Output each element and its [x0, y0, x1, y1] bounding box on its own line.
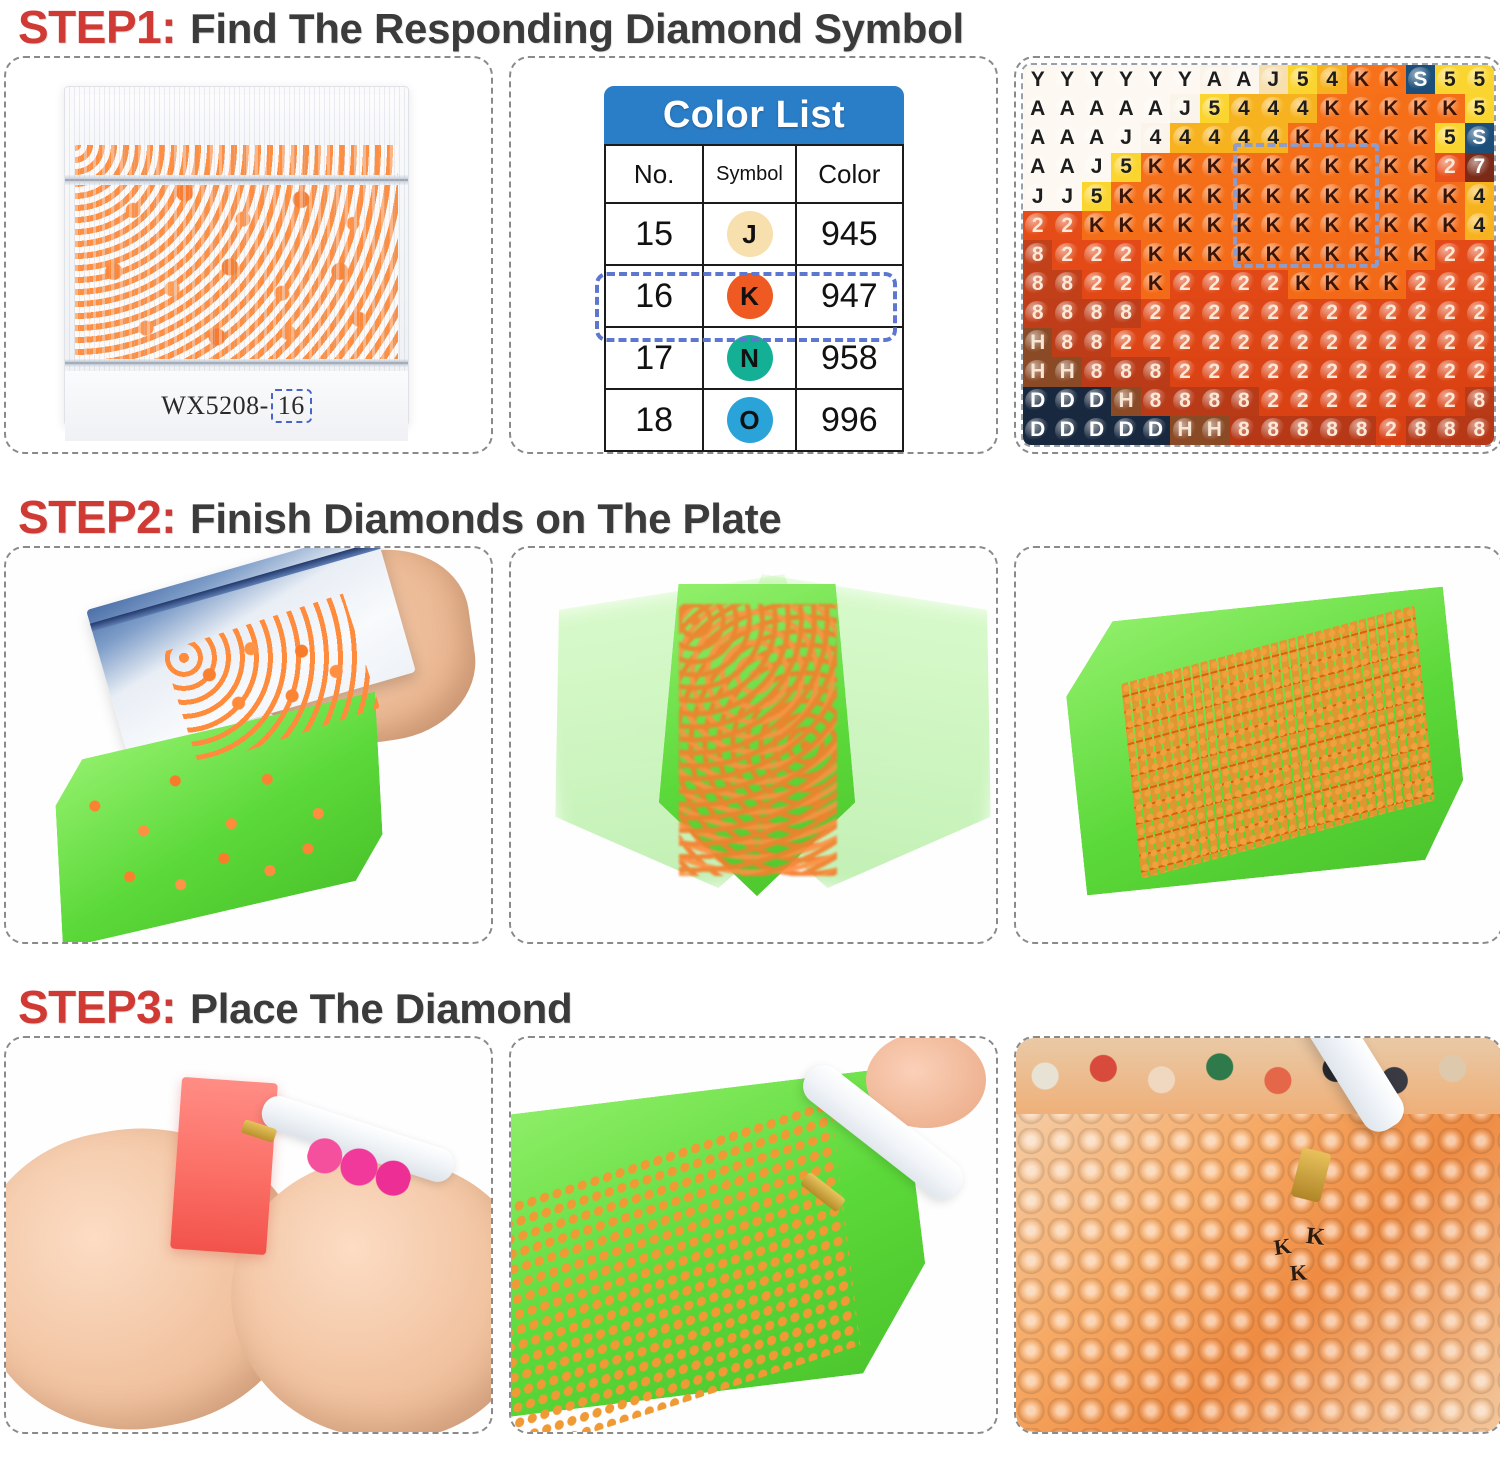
grid-cell-symbol: 4 — [1209, 126, 1221, 150]
grid-cell-symbol: 2 — [1209, 360, 1221, 384]
cell-no: 17 — [605, 327, 703, 389]
grid-cell: 7 — [1465, 153, 1494, 182]
grid-cell-symbol: K — [1354, 272, 1369, 296]
grid-cell-symbol: 2 — [1356, 360, 1368, 384]
grid-cell-symbol: 2 — [1473, 360, 1485, 384]
grid-cell-symbol: 2 — [1091, 243, 1103, 267]
grid-cell-symbol: 2 — [1209, 301, 1221, 325]
grid-cell-symbol: 2 — [1120, 331, 1132, 355]
grid-cell: A — [1023, 94, 1052, 123]
grid-cell-symbol: K — [1118, 185, 1133, 209]
grid-cell-symbol: Y — [1119, 68, 1133, 92]
grid-cell: K — [1200, 211, 1229, 240]
panel-pour-image — [6, 548, 491, 942]
grid-cell: 2 — [1376, 357, 1405, 386]
grid-cell: 2 — [1141, 299, 1170, 328]
panel-pen-wax — [4, 1036, 493, 1434]
grid-cell-symbol: K — [1442, 97, 1457, 121]
grid-cell-symbol: 8 — [1415, 418, 1427, 442]
grid-cell-symbol: D — [1089, 389, 1104, 413]
grid-cell: 4 — [1259, 94, 1288, 123]
grid-cell: 8 — [1200, 387, 1229, 416]
grid-cell-symbol: 8 — [1238, 418, 1250, 442]
grid-cell: 8 — [1229, 387, 1258, 416]
grid-cell-symbol: 5 — [1120, 155, 1132, 179]
step2-text: Finish Diamonds on The Plate — [190, 495, 781, 543]
grid-cell: 8 — [1141, 357, 1170, 386]
grid-cell-symbol: K — [1354, 97, 1369, 121]
grid-cell-symbol: 2 — [1385, 331, 1397, 355]
grid-cell: A — [1082, 123, 1111, 152]
grid-cell-symbol: 8 — [1032, 301, 1044, 325]
grid-cell-symbol: 2 — [1267, 389, 1279, 413]
grid-cell: 2 — [1435, 328, 1464, 357]
grid-cell-symbol: K — [1207, 243, 1222, 267]
pink-wax-block — [170, 1077, 278, 1255]
step3-text: Place The Diamond — [190, 985, 572, 1033]
grid-cell-symbol: 2 — [1385, 418, 1397, 442]
grid-cell: 5 — [1082, 182, 1111, 211]
grid-cell-symbol: A — [1060, 126, 1075, 150]
step2-panel-row — [0, 546, 1500, 944]
cell-no: 18 — [605, 389, 703, 451]
grid-cell-symbol: A — [1207, 68, 1222, 92]
grid-cell-symbol: 2 — [1356, 389, 1368, 413]
grid-cell: 2 — [1259, 299, 1288, 328]
table-row: 18 O 996 — [605, 389, 903, 451]
grid-cell: 4 — [1465, 211, 1494, 240]
grid-cell: 8 — [1347, 416, 1376, 445]
grid-cell: K — [1170, 153, 1199, 182]
table-row: 16 K 947 — [605, 265, 903, 327]
grid-cell: 5 — [1435, 123, 1464, 152]
grid-cell: K — [1141, 211, 1170, 240]
grid-cell-symbol: 2 — [1297, 331, 1309, 355]
grid-cell: 4 — [1200, 123, 1229, 152]
grid-cell: 2 — [1111, 240, 1140, 269]
grid-cell: D — [1023, 416, 1052, 445]
grid-cell-symbol: 2 — [1150, 301, 1162, 325]
grid-cell-symbol: 8 — [1032, 243, 1044, 267]
grid-cell: 8 — [1023, 299, 1052, 328]
grid-cell: K — [1317, 270, 1346, 299]
grid-cell-symbol: D — [1030, 418, 1045, 442]
grid-cell-symbol: 8 — [1473, 418, 1485, 442]
grid-cell: 8 — [1111, 299, 1140, 328]
grid-cell-symbol: 2 — [1356, 331, 1368, 355]
grid-cell-symbol: K — [1413, 185, 1428, 209]
grid-cell: K — [1376, 182, 1405, 211]
grid-cell-symbol: 2 — [1032, 214, 1044, 238]
grid-cell: 4 — [1317, 65, 1346, 94]
step3-panel-row: K K K — [0, 1036, 1500, 1434]
grid-cell: 2 — [1465, 299, 1494, 328]
panel-shake-tray — [509, 546, 998, 944]
grid-cell: 2 — [1465, 357, 1494, 386]
grid-cell: S — [1465, 123, 1494, 152]
grid-cell-symbol: 2 — [1179, 272, 1191, 296]
grid-cell-symbol: 2 — [1415, 331, 1427, 355]
grid-cell: 2 — [1200, 270, 1229, 299]
grid-cell-symbol: 2 — [1179, 301, 1191, 325]
grid-cell: Y — [1023, 65, 1052, 94]
grid-cell: 2 — [1052, 211, 1081, 240]
grid-cell: 2 — [1347, 357, 1376, 386]
grid-cell-symbol: 4 — [1150, 126, 1162, 150]
grid-cell: D — [1082, 416, 1111, 445]
grid-cell: 5 — [1111, 153, 1140, 182]
grid-cell-symbol: K — [1177, 243, 1192, 267]
grid-cell: 2 — [1259, 387, 1288, 416]
grid-cell-symbol: K — [1383, 272, 1398, 296]
grid-cell: A — [1141, 94, 1170, 123]
grid-cell-symbol: 2 — [1297, 360, 1309, 384]
canvas-symbol-k: K — [1289, 1259, 1308, 1286]
grid-cell-symbol: 2 — [1473, 301, 1485, 325]
grid-cell: K — [1376, 65, 1405, 94]
grid-cell: K — [1376, 211, 1405, 240]
grid-cell-symbol: D — [1060, 418, 1075, 442]
grid-cell: 2 — [1465, 240, 1494, 269]
grid-cell: K — [1406, 182, 1435, 211]
grid-cell-symbol: 2 — [1267, 272, 1279, 296]
grid-cell-symbol: K — [1148, 272, 1163, 296]
header-no: No. — [605, 145, 703, 203]
grid-cell: K — [1347, 270, 1376, 299]
grid-cell: K — [1200, 153, 1229, 182]
grid-cell: Y — [1170, 65, 1199, 94]
grid-cell: K — [1376, 240, 1405, 269]
grid-cell-symbol: 2 — [1120, 272, 1132, 296]
grid-cell-symbol: K — [1207, 185, 1222, 209]
grid-cell-symbol: A — [1148, 97, 1163, 121]
grid-cell: K — [1406, 153, 1435, 182]
grid-cell-symbol: J — [1267, 68, 1279, 92]
grid-cell: A — [1052, 153, 1081, 182]
panel-shake-image — [511, 548, 996, 942]
panel-color-list: Color List No. Symbol Color 15 J 945 — [509, 56, 998, 454]
grid-cell-symbol: 2 — [1473, 272, 1485, 296]
grid-cell: 2 — [1082, 270, 1111, 299]
grid-cell-symbol: 8 — [1091, 331, 1103, 355]
grid-cell: K — [1406, 94, 1435, 123]
grid-cell: A — [1023, 123, 1052, 152]
panel-aligned-diamonds — [1014, 546, 1500, 944]
grid-cell-symbol: 5 — [1091, 185, 1103, 209]
grid-cell: D — [1111, 416, 1140, 445]
grid-cell-symbol: 2 — [1267, 360, 1279, 384]
cell-color: 996 — [796, 389, 903, 451]
grid-cell: D — [1052, 416, 1081, 445]
color-list-table: No. Symbol Color 15 J 945 16 K 947 — [604, 144, 904, 452]
grid-cell-symbol: 2 — [1179, 360, 1191, 384]
grid-cell-symbol: K — [1118, 214, 1133, 238]
grid-cell: 2 — [1288, 299, 1317, 328]
grid-cell: K — [1376, 94, 1405, 123]
grid-cell-symbol: 8 — [1120, 301, 1132, 325]
grid-cell-symbol: 2 — [1473, 331, 1485, 355]
step1-heading: STEP1: Find The Responding Diamond Symbo… — [0, 0, 1500, 56]
grid-cell-symbol: A — [1030, 97, 1045, 121]
grid-cell: 2 — [1082, 240, 1111, 269]
grid-cell-symbol: D — [1148, 418, 1163, 442]
grid-cell: 8 — [1465, 387, 1494, 416]
panel-color-list-image: Color List No. Symbol Color 15 J 945 — [511, 58, 996, 452]
grid-cell: H — [1023, 328, 1052, 357]
grid-cell: 8 — [1288, 416, 1317, 445]
grid-cell-symbol: Y — [1148, 68, 1162, 92]
panel-diamond-bag-image: WX5208- 16 — [6, 58, 491, 452]
table-header-row: No. Symbol Color — [605, 145, 903, 203]
cell-symbol: J — [703, 203, 795, 265]
grid-cell-symbol: H — [1030, 360, 1045, 384]
grid-cell-symbol: 2 — [1238, 272, 1250, 296]
grid-cell-symbol: A — [1236, 68, 1251, 92]
grid-cell: 2 — [1259, 270, 1288, 299]
grid-cell-symbol: 2 — [1326, 389, 1338, 413]
step1-text: Find The Responding Diamond Symbol — [190, 5, 964, 53]
grid-cell: 2 — [1376, 387, 1405, 416]
grid-cell: K — [1200, 182, 1229, 211]
grid-cell: S — [1406, 65, 1435, 94]
grid-cell: J — [1111, 123, 1140, 152]
symbol-dot: K — [727, 273, 773, 319]
ziplock-bag: WX5208- 16 — [64, 86, 409, 426]
grid-cell: 2 — [1435, 240, 1464, 269]
grid-cell-symbol: 8 — [1267, 418, 1279, 442]
grid-cell: 2 — [1406, 270, 1435, 299]
grid-cell-symbol: 4 — [1238, 97, 1250, 121]
grid-cell: K — [1288, 270, 1317, 299]
grid-cell-symbol: 8 — [1209, 389, 1221, 413]
panel-symbol-canvas: YYYYYYAAJ54KKS55AAAAAJ5444KKKKK5AAAJ4444… — [1014, 56, 1500, 454]
grid-cell-symbol: D — [1060, 389, 1075, 413]
grid-cell: 8 — [1082, 357, 1111, 386]
grid-cell: 8 — [1052, 270, 1081, 299]
header-symbol: Symbol — [703, 145, 795, 203]
grid-cell: H — [1052, 357, 1081, 386]
instruction-sheet: STEP1: Find The Responding Diamond Symbo… — [0, 0, 1500, 1482]
grid-cell-symbol: 8 — [1032, 272, 1044, 296]
grid-cell: K — [1435, 182, 1464, 211]
grid-cell: Y — [1052, 65, 1081, 94]
grid-cell-symbol: 8 — [1150, 389, 1162, 413]
grid-cell-symbol: K — [1413, 214, 1428, 238]
grid-cell: 5 — [1200, 94, 1229, 123]
grid-cell-symbol: D — [1030, 389, 1045, 413]
grid-cell: K — [1170, 240, 1199, 269]
grid-cell: 4 — [1288, 94, 1317, 123]
grid-cell-symbol: 2 — [1444, 272, 1456, 296]
grid-cell-symbol: H — [1118, 389, 1133, 413]
step2-heading: STEP2: Finish Diamonds on The Plate — [0, 490, 1500, 546]
grid-cell: 8 — [1111, 357, 1140, 386]
grid-cell-symbol: D — [1089, 418, 1104, 442]
grid-cell-symbol: 2 — [1150, 331, 1162, 355]
grid-cell-symbol: Y — [1178, 68, 1192, 92]
grid-cell: K — [1141, 240, 1170, 269]
grid-cell: 4 — [1170, 123, 1199, 152]
grid-cell-symbol: K — [1442, 214, 1457, 238]
grid-cell-symbol: K — [1413, 126, 1428, 150]
grid-cell: A — [1052, 123, 1081, 152]
grid-cell: K — [1111, 211, 1140, 240]
cell-no: 16 — [605, 265, 703, 327]
grid-cell-symbol: K — [1089, 214, 1104, 238]
grid-cell: 8 — [1406, 416, 1435, 445]
grid-cell-symbol: H — [1177, 418, 1192, 442]
grid-cell-symbol: 4 — [1473, 185, 1485, 209]
grid-cell: 2 — [1347, 299, 1376, 328]
grid-cell: 5 — [1435, 65, 1464, 94]
grid-cell-symbol: H — [1207, 418, 1222, 442]
symbol-dot: O — [727, 397, 773, 443]
grid-cell-symbol: 8 — [1179, 389, 1191, 413]
grid-cell-symbol: 2 — [1385, 389, 1397, 413]
grid-cell-symbol: 5 — [1209, 97, 1221, 121]
grid-cell-symbol: 2 — [1209, 272, 1221, 296]
cell-no: 15 — [605, 203, 703, 265]
symbol-dot: N — [727, 335, 773, 381]
grid-cell: 2 — [1111, 328, 1140, 357]
grid-cell-symbol: 8 — [1061, 301, 1073, 325]
grid-cell-symbol: 2 — [1297, 389, 1309, 413]
panel-place-image: K K K — [1016, 1038, 1500, 1432]
grid-cell-symbol: 2 — [1415, 272, 1427, 296]
grid-cell-symbol: 7 — [1473, 155, 1485, 179]
grid-cell: 2 — [1288, 387, 1317, 416]
grid-cell: 2 — [1229, 328, 1258, 357]
canvas-chart-wrap: YYYYYYAAJ54KKS55AAAAAJ5444KKKKK5AAAJ4444… — [1016, 58, 1500, 452]
grid-cell: J — [1023, 182, 1052, 211]
grid-cell: Y — [1111, 65, 1140, 94]
grid-cell-symbol: Y — [1090, 68, 1104, 92]
grid-cell-symbol: 2 — [1444, 301, 1456, 325]
cell-color: 958 — [796, 327, 903, 389]
grid-cell-symbol: 8 — [1297, 418, 1309, 442]
grid-cell: H — [1023, 357, 1052, 386]
grid-cell-symbol: J — [1061, 185, 1073, 209]
grid-cell-symbol: 2 — [1326, 331, 1338, 355]
grid-cell: Y — [1141, 65, 1170, 94]
grid-cell: 2 — [1259, 328, 1288, 357]
grid-cell-symbol: 2 — [1297, 301, 1309, 325]
grid-cell-symbol: 2 — [1267, 331, 1279, 355]
canvas-symbol-k: K — [1272, 1233, 1293, 1261]
grid-cell-symbol: K — [1383, 214, 1398, 238]
grid-cell-symbol: 4 — [1473, 214, 1485, 238]
grid-cell: D — [1052, 387, 1081, 416]
step2-number: STEP2: — [18, 490, 176, 544]
grid-cell: H — [1111, 387, 1140, 416]
grid-cell-symbol: 2 — [1061, 214, 1073, 238]
grid-cell: 8 — [1317, 416, 1346, 445]
grid-cell-symbol: J — [1120, 126, 1132, 150]
grid-cell-symbol: 2 — [1061, 243, 1073, 267]
step3-heading: STEP3: Place The Diamond — [0, 980, 1500, 1036]
grid-cell: A — [1082, 94, 1111, 123]
grid-cell-symbol: K — [1207, 155, 1222, 179]
grid-cell-symbol: J — [1032, 185, 1044, 209]
panel-place-on-canvas: K K K — [1014, 1036, 1500, 1434]
grid-cell: A — [1111, 94, 1140, 123]
grid-cell-symbol: 8 — [1091, 301, 1103, 325]
grid-cell: A — [1023, 153, 1052, 182]
grid-cell-symbol: K — [1383, 243, 1398, 267]
grid-cell-symbol: K — [1413, 243, 1428, 267]
grid-cell: A — [1052, 94, 1081, 123]
grid-cell-symbol: 2 — [1238, 301, 1250, 325]
grid-cell: 2 — [1465, 328, 1494, 357]
grid-cell-symbol: 8 — [1356, 418, 1368, 442]
grid-cell-symbol: K — [1295, 272, 1310, 296]
grid-cell: 2 — [1317, 387, 1346, 416]
grid-cell: K — [1141, 270, 1170, 299]
grid-cell-symbol: 5 — [1297, 68, 1309, 92]
grid-cell: 2 — [1229, 270, 1258, 299]
grid-cell-symbol: K — [1148, 243, 1163, 267]
grid-cell-symbol: 4 — [1297, 97, 1309, 121]
grid-cell-symbol: 5 — [1473, 97, 1485, 121]
grid-cell-symbol: 2 — [1091, 272, 1103, 296]
grid-cell-symbol: A — [1060, 155, 1075, 179]
grid-cell: 2 — [1376, 328, 1405, 357]
grid-cell-symbol: K — [1442, 185, 1457, 209]
grid-cell: K — [1435, 211, 1464, 240]
grid-cell-symbol: A — [1030, 126, 1045, 150]
grid-cell-symbol: Y — [1031, 68, 1045, 92]
grid-cell: 2 — [1200, 299, 1229, 328]
grid-cell: 8 — [1052, 328, 1081, 357]
grid-cell-symbol: A — [1089, 97, 1104, 121]
grid-cell-symbol: K — [1383, 97, 1398, 121]
grid-region-highlight — [1233, 143, 1379, 268]
step3-number: STEP3: — [18, 980, 176, 1034]
grid-cell-symbol: 8 — [1473, 389, 1485, 413]
cell-color: 945 — [796, 203, 903, 265]
grid-cell: 2 — [1376, 416, 1405, 445]
grid-cell: 2 — [1317, 328, 1346, 357]
grid-cell: 2 — [1406, 299, 1435, 328]
grid-cell: J — [1259, 65, 1288, 94]
symbol-dot: J — [727, 211, 773, 257]
grid-cell: D — [1141, 416, 1170, 445]
grid-cell-symbol: 2 — [1326, 360, 1338, 384]
grid-cell: J — [1052, 182, 1081, 211]
grid-cell-symbol: 2 — [1385, 360, 1397, 384]
color-list-title: Color List — [604, 86, 904, 144]
grid-cell: 2 — [1288, 357, 1317, 386]
grid-cell: 2 — [1200, 357, 1229, 386]
grid-cell-symbol: 2 — [1444, 389, 1456, 413]
grid-cell: Y — [1082, 65, 1111, 94]
grid-cell: 2 — [1200, 328, 1229, 357]
grid-cell-symbol: 2 — [1385, 301, 1397, 325]
grid-cell: K — [1347, 94, 1376, 123]
grid-cell-symbol: K — [1413, 155, 1428, 179]
grid-cell-symbol: K — [1383, 68, 1398, 92]
grid-cell: 2 — [1170, 299, 1199, 328]
grid-cell: 4 — [1141, 123, 1170, 152]
grid-cell: K — [1170, 182, 1199, 211]
grid-cell-symbol: 2 — [1326, 301, 1338, 325]
grid-cell: D — [1023, 387, 1052, 416]
grid-cell: 8 — [1082, 299, 1111, 328]
grid-cell: 2 — [1170, 270, 1199, 299]
grid-cell-symbol: K — [1177, 214, 1192, 238]
grid-cell: 4 — [1465, 182, 1494, 211]
grid-cell-symbol: J — [1179, 97, 1191, 121]
